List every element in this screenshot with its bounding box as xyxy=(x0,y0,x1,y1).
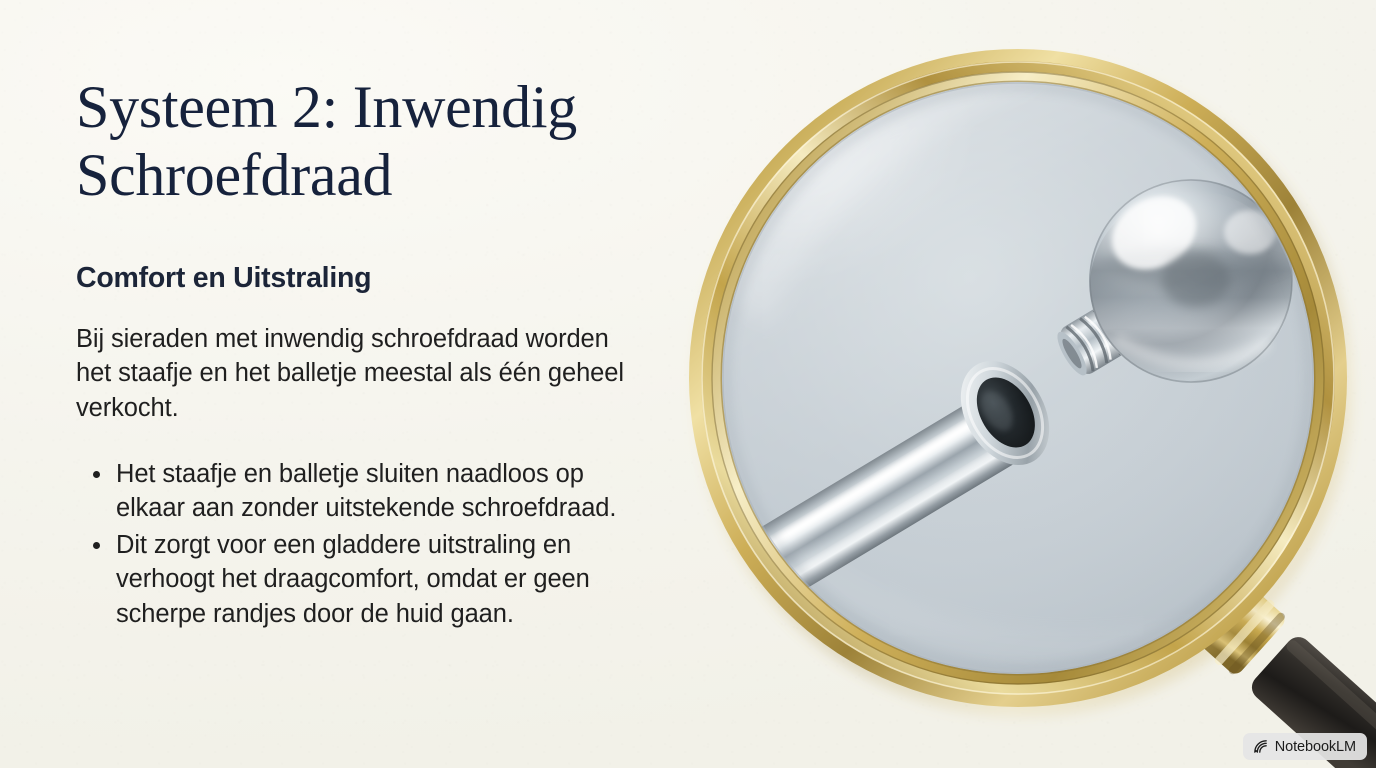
magnifying-glass-illustration xyxy=(660,18,1376,768)
list-item: Dit zorgt voor een gladdere uitstraling … xyxy=(76,528,650,632)
section-subheading: Comfort en Uitstraling xyxy=(76,262,650,295)
notebooklm-badge[interactable]: NotebookLM xyxy=(1243,733,1367,760)
slide-canvas: Systeem 2: Inwendig Schroefdraad Comfort… xyxy=(0,0,1376,768)
list-item-label: Dit zorgt voor een gladdere uitstraling … xyxy=(116,531,590,628)
bullet-list: Het staafje en balletje sluiten naadloos… xyxy=(76,457,650,632)
bullet-dot-icon xyxy=(93,542,100,549)
list-item-label: Het staafje en balletje sluiten naadloos… xyxy=(116,460,616,523)
intro-paragraph: Bij sieraden met inwendig schroefdraad w… xyxy=(76,322,650,426)
notebooklm-badge-label: NotebookLM xyxy=(1275,739,1356,755)
page-title: Systeem 2: Inwendig Schroefdraad xyxy=(76,74,650,210)
notebook-spiral-icon xyxy=(1252,738,1269,755)
bullet-dot-icon xyxy=(93,471,100,478)
list-item: Het staafje en balletje sluiten naadloos… xyxy=(76,457,650,526)
slide-text-column: Systeem 2: Inwendig Schroefdraad Comfort… xyxy=(76,74,650,631)
